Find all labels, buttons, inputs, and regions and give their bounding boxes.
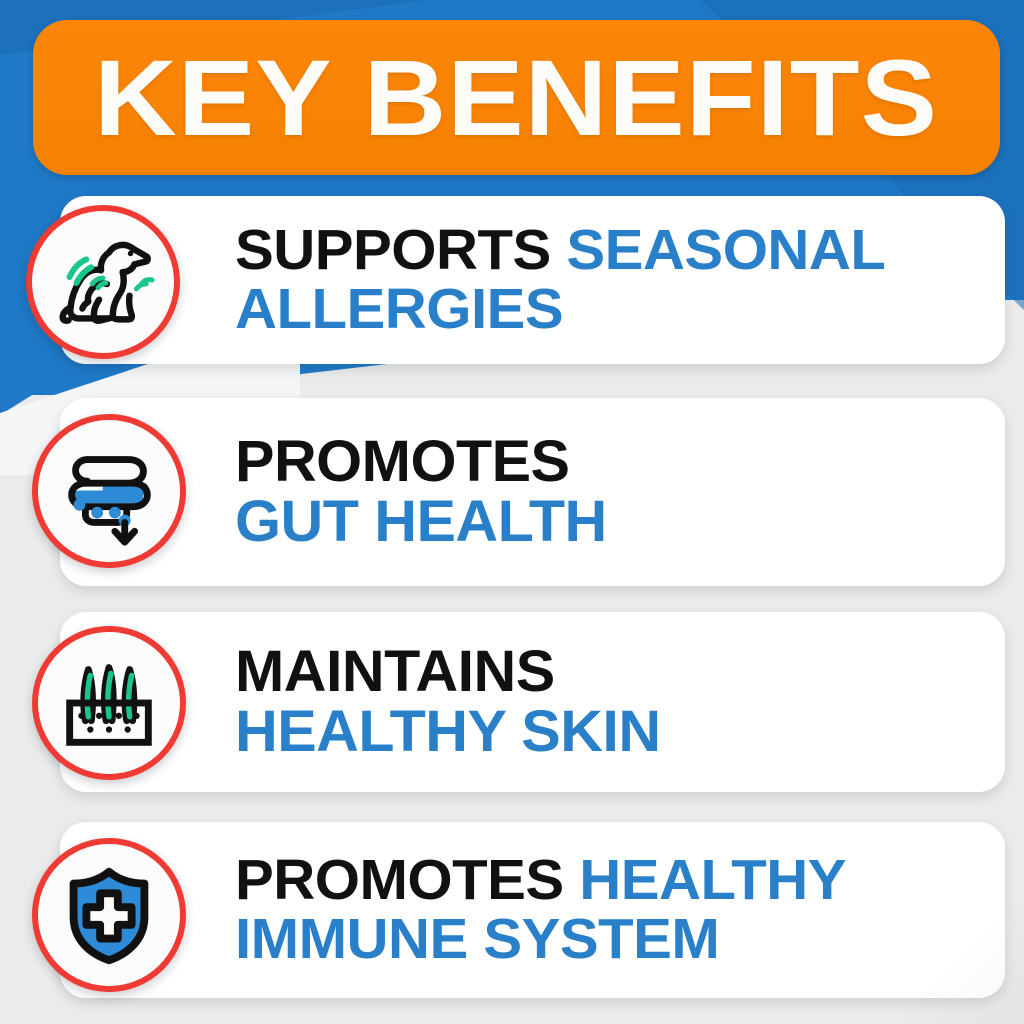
key-benefits-infographic: KEY BENEFITS SUPPORTS SEASONAL ALLERGIES…: [0, 0, 1024, 1024]
skin-hair-follicle-icon: [32, 626, 186, 780]
intestine-gut-icon: [32, 414, 186, 568]
benefit-text-allergies: SUPPORTS SEASONAL ALLERGIES: [235, 221, 1020, 340]
benefit-lead-immune-system: PROMOTES: [235, 848, 564, 912]
benefit-card-healthy-skin[interactable]: MAINTAINS HEALTHY SKIN: [60, 612, 1005, 792]
benefit-lead-gut-health: PROMOTES: [235, 429, 569, 494]
benefit-lead-healthy-skin: MAINTAINS: [235, 639, 555, 704]
benefit-card-immune-system[interactable]: PROMOTES HEALTHY IMMUNE SYSTEM: [60, 822, 1005, 998]
benefit-lead-allergies: SUPPORTS: [235, 218, 551, 282]
benefit-text-healthy-skin: MAINTAINS HEALTHY SKIN: [235, 642, 661, 763]
dog-scratching-icon: [26, 205, 180, 359]
benefit-text-immune-system: PROMOTES HEALTHY IMMUNE SYSTEM: [235, 851, 1020, 970]
benefit-highlight-gut-health: GUT HEALTH: [235, 489, 607, 554]
benefit-card-allergies[interactable]: SUPPORTS SEASONAL ALLERGIES: [60, 196, 1005, 364]
benefit-card-gut-health[interactable]: PROMOTES GUT HEALTH: [60, 398, 1005, 586]
header-banner: KEY BENEFITS: [33, 20, 1000, 175]
benefit-text-gut-health: PROMOTES GUT HEALTH: [235, 432, 607, 553]
shield-cross-immune-icon: [32, 838, 186, 992]
page-title: KEY BENEFITS: [95, 44, 939, 152]
benefit-highlight-healthy-skin: HEALTHY SKIN: [235, 699, 661, 764]
